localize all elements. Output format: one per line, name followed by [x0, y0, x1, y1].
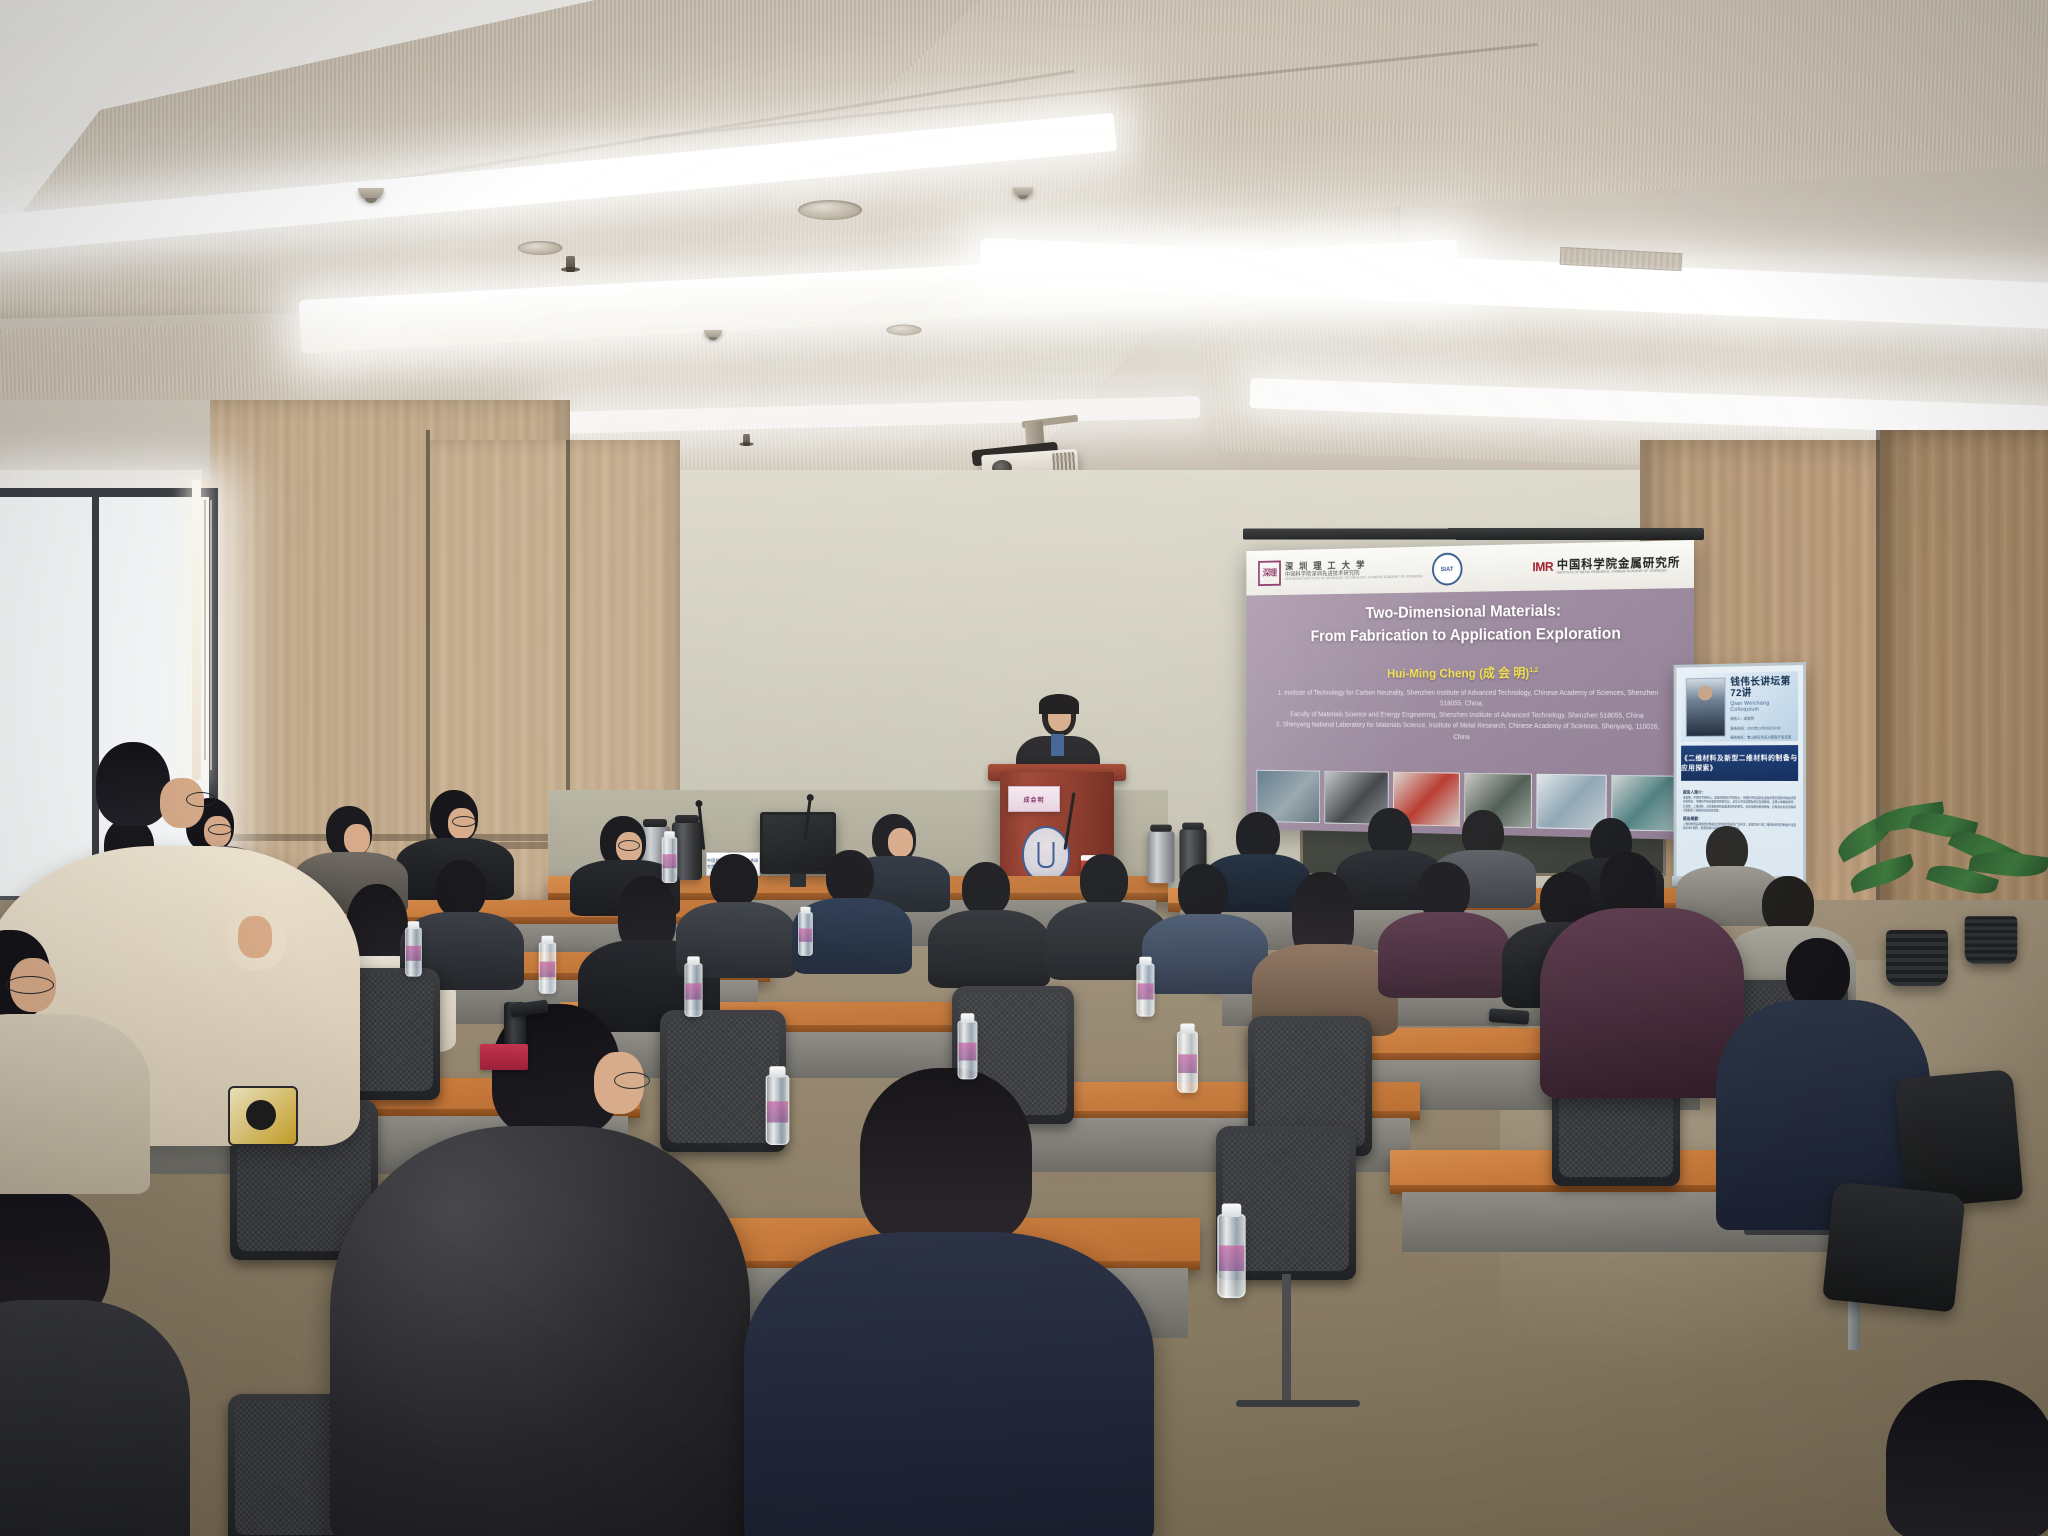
attendee-torso — [1378, 912, 1510, 998]
slide-author: Hui-Ming Cheng (成 会 明)1,2 — [1246, 662, 1694, 682]
attendee-head — [1600, 852, 1656, 914]
logo-imr: IMR 中国科学院金属研究所 INSTITUTE OF METAL RESEAR… — [1532, 556, 1680, 575]
plant-pot — [1886, 930, 1948, 986]
chair-base — [1236, 1400, 1360, 1407]
water-bottle — [684, 963, 702, 1017]
attendee-head — [1178, 864, 1228, 920]
slide-affiliations: 1. Institute of Technology for Carbon Ne… — [1268, 688, 1669, 745]
thermos-flask — [1148, 831, 1175, 883]
ceiling-speaker-icon — [518, 241, 563, 255]
slide-title-line-2: From Fabrication to Application Explorat… — [1261, 622, 1676, 649]
slide-author-name: Hui-Ming Cheng (成 会 明) — [1387, 666, 1529, 681]
poster-title-cn: 钱伟长讲坛第72讲 — [1730, 676, 1793, 699]
sztu-name-en: SHENZHEN INSTITUTE OF ADVANCED TECHNOLOG… — [1285, 576, 1423, 582]
slide-author-superscript: 1,2 — [1529, 667, 1538, 674]
attendee-puffer-jacket — [1540, 908, 1744, 1098]
attendee-torso — [928, 910, 1050, 988]
presentation-slide: 深理 深 圳 理 工 大 学 中国科学院深圳先进技术研究院 SHENZHEN I… — [1246, 540, 1694, 840]
sprinkler-icon — [743, 434, 750, 446]
conference-room-photo: 深理 深 圳 理 工 大 学 中国科学院深圳先进技术研究院 SHENZHEN I… — [0, 0, 2048, 1536]
backpack — [1822, 1181, 1966, 1312]
attendee-torso — [744, 1232, 1154, 1536]
glasses-icon — [6, 976, 54, 994]
attendee-head — [710, 854, 758, 908]
poster-topic-text: 《二维材料及新型二维材料的制备与应用探索》 — [1681, 753, 1798, 773]
wall-above-window — [0, 400, 210, 480]
glasses-icon — [452, 816, 476, 827]
desktop-monitor — [760, 812, 836, 874]
water-bottle — [766, 1075, 790, 1145]
poster-header: 钱伟长讲坛第72讲 Qian Weichang Colloquium 报告人：成… — [1681, 671, 1798, 742]
attendee-hair — [860, 1068, 1032, 1244]
podium-crest-icon — [1022, 826, 1070, 882]
attendee-face — [888, 828, 913, 857]
water-bottle — [958, 1021, 978, 1080]
poster-topic-band: 《二维材料及新型二维材料的制备与应用探索》 — [1681, 745, 1798, 781]
water-bottle — [405, 927, 422, 976]
ceiling-speaker-icon — [798, 200, 862, 220]
poster-abstract-heading: 报告摘要： — [1683, 816, 1796, 823]
plant-pot — [1965, 916, 2018, 964]
chair-stem — [1282, 1274, 1291, 1404]
attendee-torso — [0, 1014, 150, 1194]
podium-name-card-text: 成会明 — [1023, 795, 1044, 804]
poster-title-en: Qian Weichang Colloquium — [1730, 700, 1793, 713]
glasses-icon — [614, 1072, 650, 1089]
siat-seal-icon: SIAT — [1432, 552, 1462, 585]
poster-time-line: 报告时间：2023年11月30日10:00 — [1730, 726, 1793, 732]
poster-bio-body: 成会明，中国科学院院士，发展中国家科学院院士，中国科学院深圳先进技术研究院碳中和… — [1683, 797, 1796, 812]
monitor-screen — [763, 815, 833, 871]
sprinkler-icon — [566, 256, 575, 272]
attendee-hair — [96, 742, 170, 826]
sztu-mark-icon: 深理 — [1258, 560, 1281, 586]
application-image — [1536, 774, 1606, 830]
poster-bio-heading: 报告人简介： — [1683, 790, 1796, 797]
backpack — [1895, 1069, 2024, 1209]
ceiling-speaker-icon — [886, 325, 921, 336]
window-mullion — [92, 488, 99, 908]
glasses-icon — [208, 824, 232, 835]
red-notebook — [480, 1044, 528, 1070]
podium-name-card: 成会明 — [1008, 786, 1060, 812]
smartphone — [1489, 1008, 1530, 1024]
attendee-head — [1080, 854, 1128, 908]
glasses-icon — [186, 792, 216, 807]
attendee-hair — [1886, 1380, 2048, 1536]
poster-speaker-line: 报告人：成会明 — [1730, 716, 1793, 722]
attendee-torso — [1142, 914, 1268, 994]
poster-place-line: 报告地点：宝山校区东区小报告厅会议室 — [1730, 735, 1793, 741]
attendee-face — [344, 824, 370, 854]
hanging-cable — [204, 500, 206, 760]
imr-name-en: INSTITUTE OF METAL RESEARCH, CHINESE ACA… — [1557, 569, 1681, 575]
water-bottle — [1177, 1031, 1198, 1093]
affiliation-1: 1. Institute of Technology for Carbon Ne… — [1268, 688, 1669, 711]
attendee-fleece-jacket — [330, 1126, 750, 1536]
water-bottle — [1136, 963, 1154, 1016]
monitor-stand — [790, 874, 806, 887]
speaker-portrait — [1686, 678, 1726, 737]
water-bottle — [662, 837, 678, 883]
attendee-hand-skin — [238, 916, 272, 958]
attendee-head — [1786, 938, 1850, 1008]
hanging-cable — [210, 500, 212, 770]
projection-screen[interactable]: 深理 深 圳 理 工 大 学 中国科学院深圳先进技术研究院 SHENZHEN I… — [1246, 540, 1694, 840]
attendee-head — [962, 862, 1010, 916]
logo-sztu: 深理 深 圳 理 工 大 学 中国科学院深圳先进技术研究院 SHENZHEN I… — [1258, 557, 1423, 586]
wall-light-strip — [192, 480, 201, 780]
water-bottle — [539, 942, 556, 994]
water-bottle — [798, 912, 813, 956]
glasses-icon — [618, 840, 640, 851]
imr-mark-icon: IMR — [1532, 560, 1553, 575]
attendee-torso — [0, 1300, 190, 1536]
affiliation-2: 2. Shenyang National Laboratory for Mate… — [1268, 720, 1669, 745]
projection-screen-rail — [1243, 528, 1704, 540]
attendee-head — [826, 850, 874, 904]
speaker-scarf — [1051, 734, 1064, 756]
water-bottle — [1217, 1214, 1246, 1298]
attendee-head — [436, 860, 486, 918]
slide-title: Two-Dimensional Materials: From Fabricat… — [1246, 598, 1694, 649]
jacket-patch-emblem — [246, 1100, 276, 1130]
speaker-hair-top — [1039, 694, 1079, 714]
